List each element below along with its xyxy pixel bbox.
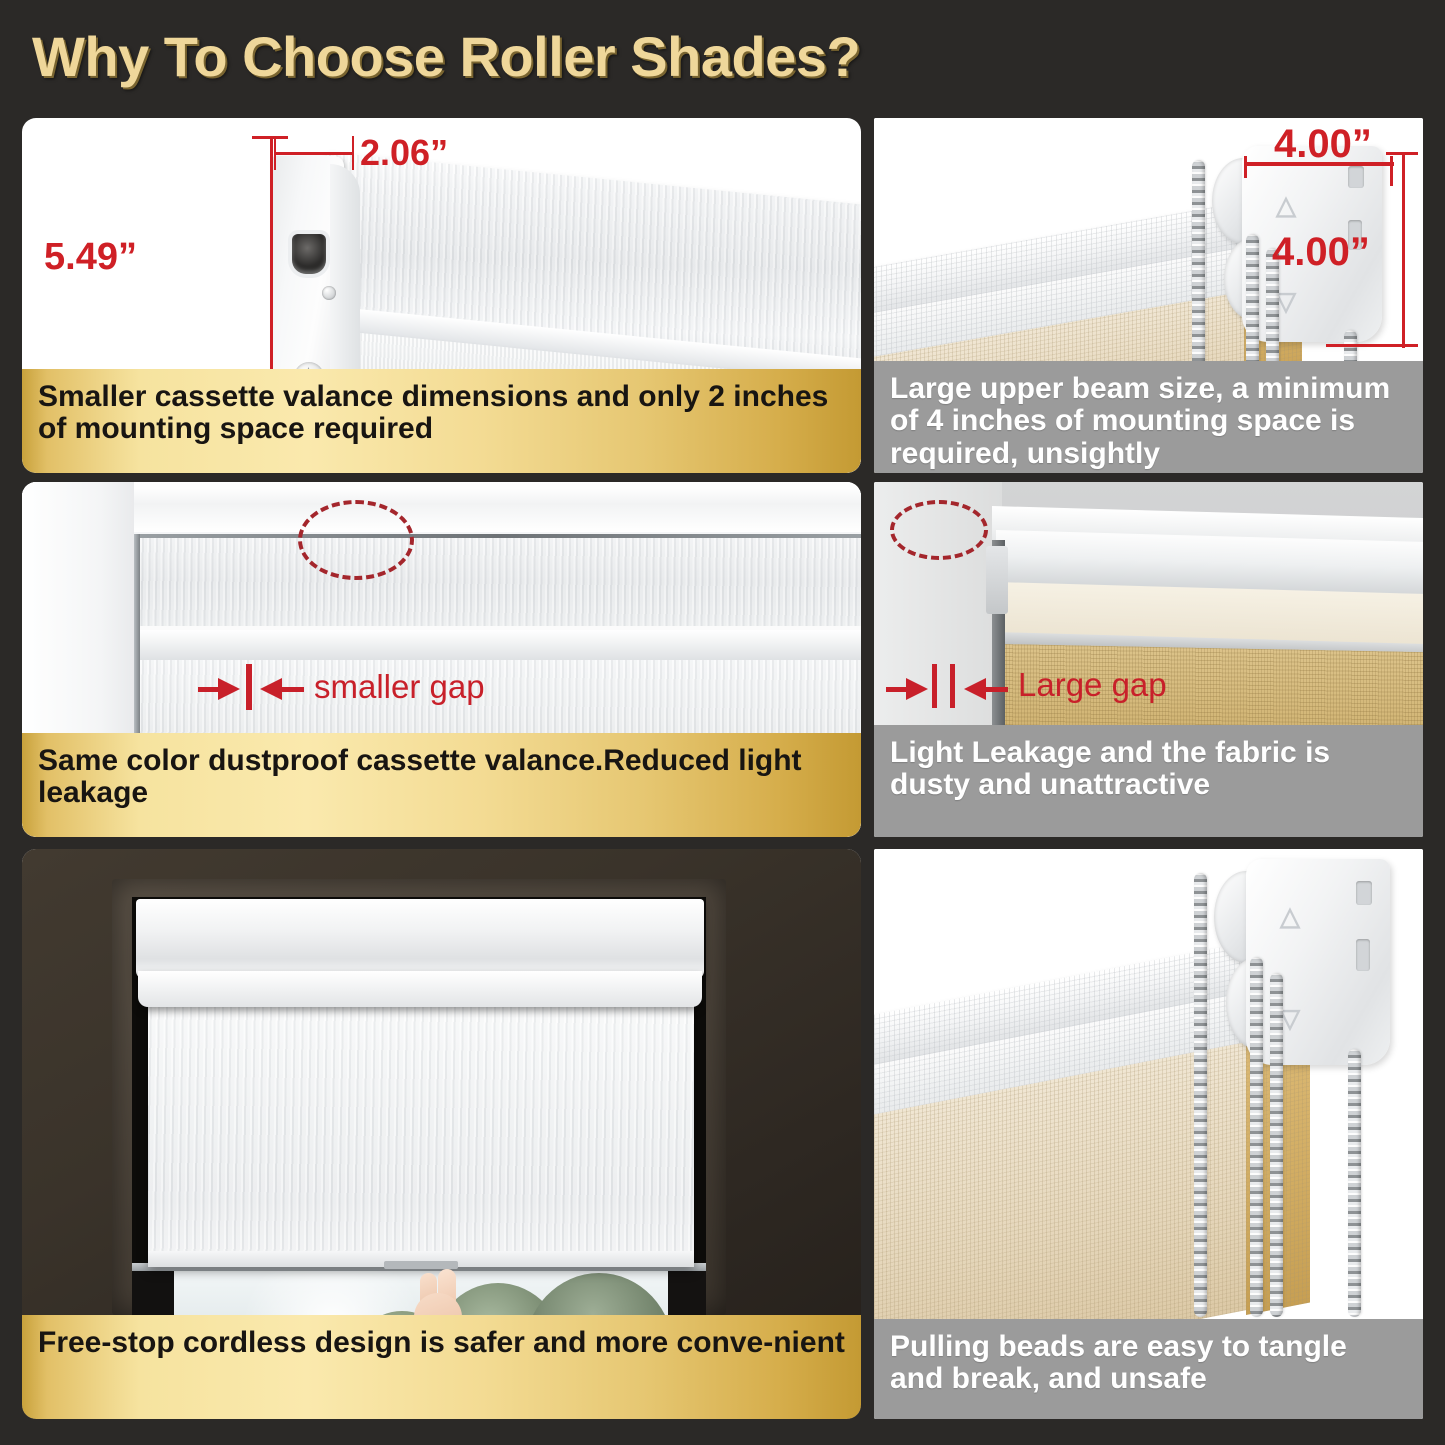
- panel-4-caption: Light Leakage and the fabric is dusty an…: [874, 725, 1423, 837]
- cassette-seam-line: [136, 534, 861, 538]
- gap-measure-bar: [246, 664, 252, 710]
- shade-fabric: [148, 1005, 694, 1267]
- gap-arrow-left-stem: [280, 687, 304, 692]
- bracket-arrow-down-icon: ▽: [1276, 288, 1296, 314]
- bracket-slot-mid-icon: [1356, 939, 1370, 971]
- gap-callout-label: Large gap: [1018, 666, 1167, 704]
- page-title: Why To Choose Roller Shades?: [32, 24, 860, 89]
- bracket-slot-top-icon: [1348, 166, 1364, 188]
- panel-6-pulling-beads: △ ▽ Pulling beads are easy to tangle and…: [874, 849, 1423, 1419]
- gap-callout-label: smaller gap: [314, 668, 485, 706]
- gap-highlight-circle: [890, 500, 988, 560]
- shade-upper-texture: [140, 538, 861, 626]
- panel-4-large-gap: Large gap Light Leakage and the fabric i…: [874, 482, 1423, 837]
- gap-arrow-left-icon: [260, 678, 282, 700]
- beam-width-tick-left: [1244, 156, 1247, 178]
- gap-measure-bar-a: [932, 664, 937, 708]
- panel-5-caption: Free-stop cordless design is safer and m…: [22, 1315, 861, 1419]
- cassette-valance: [136, 899, 704, 979]
- beam-width-label: 4.00”: [1274, 122, 1372, 167]
- height-tick-top: [252, 136, 288, 139]
- bracket-slot-top-icon: [1356, 881, 1372, 905]
- gap-arrow-right-stem: [198, 687, 220, 692]
- height-dimension-label: 5.49”: [44, 236, 137, 279]
- bracket-arrow-up-icon: △: [1276, 192, 1296, 218]
- mounting-bracket: △ ▽: [1246, 859, 1390, 1065]
- panel-2-caption: Large upper beam size, a minimum of 4 in…: [874, 361, 1423, 473]
- window-frame-left: [22, 482, 134, 734]
- bracket-screw-icon: [322, 286, 336, 300]
- panel-1-smaller-cassette: 2.06” 5.49” Smaller cassette valance dim…: [22, 118, 861, 473]
- gap-arrow-right-icon: [906, 678, 928, 700]
- beam-width-tick-right: [1390, 156, 1393, 186]
- beam-height-label: 4.00”: [1272, 230, 1370, 275]
- beam-height-tick-top: [1386, 152, 1418, 155]
- mounting-clip: [986, 546, 1008, 614]
- window-molding-inner: [134, 504, 861, 532]
- gap-arrow-left-icon: [964, 678, 986, 700]
- panel-2-large-beam: △ ▽ 4.00” 4.00” Large upper beam size, a…: [874, 118, 1423, 473]
- shade-rail: [140, 630, 861, 660]
- bead-chain-tail: [1348, 1049, 1361, 1317]
- beam-height-tick-bottom: [1326, 344, 1418, 347]
- shade-fabric-texture: [148, 1005, 694, 1267]
- gap-measure-bar-b: [950, 664, 955, 708]
- panel-1-caption: Smaller cassette valance dimensions and …: [22, 369, 861, 473]
- panel-3-small-gap: smaller gap Same color dustproof cassett…: [22, 482, 861, 837]
- panel-5-cordless-design: Free-stop cordless design is safer and m…: [22, 849, 861, 1419]
- cassette-valance-lower: [138, 971, 702, 1007]
- gap-arrow-left-stem: [984, 687, 1008, 692]
- shade-left-edge: [134, 534, 140, 734]
- panel-6-caption: Pulling beads are easy to tangle and bre…: [874, 1319, 1423, 1419]
- gap-arrow-right-stem: [886, 687, 908, 692]
- shade-panel-upper: [140, 538, 861, 626]
- comparison-grid: 2.06” 5.49” Smaller cassette valance dim…: [0, 112, 1445, 1445]
- seam-highlight-circle: [298, 500, 414, 580]
- panel-3-caption: Same color dustproof cassette valance.Re…: [22, 733, 861, 837]
- width-dimension-label: 2.06”: [360, 132, 448, 174]
- bracket-arrow-up-icon: △: [1280, 903, 1300, 929]
- bead-chain-inner: [1270, 973, 1283, 1317]
- width-dim-line: [274, 152, 354, 155]
- beam-height-dim-line: [1402, 152, 1405, 348]
- page-header: Why To Choose Roller Shades?: [0, 0, 1445, 112]
- bracket-arrow-down-icon: ▽: [1280, 1005, 1300, 1031]
- bead-chain-front: [1194, 873, 1207, 1317]
- gap-arrow-right-icon: [218, 678, 240, 700]
- bracket-socket-icon: [292, 234, 326, 274]
- bead-chain-mid: [1250, 957, 1263, 1317]
